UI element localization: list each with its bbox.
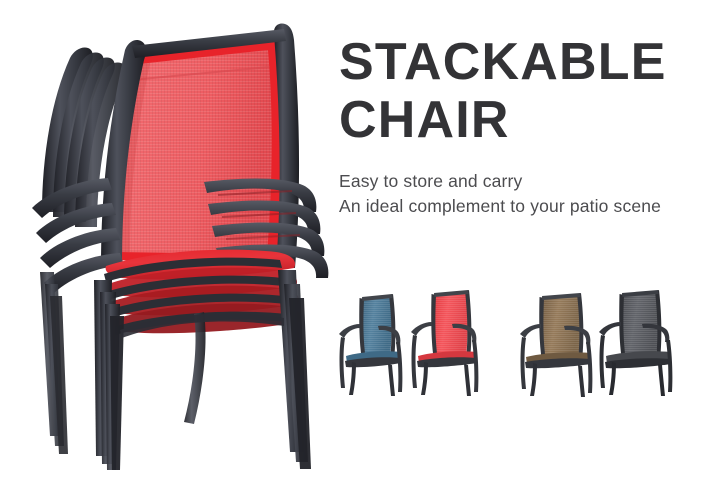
headline-line-1: STACKABLE xyxy=(339,34,699,90)
product-banner: STACKABLE CHAIR Easy to store and carry … xyxy=(0,0,720,480)
variant-chair-gray xyxy=(599,290,672,396)
headline-line-2: CHAIR xyxy=(339,92,699,148)
variant-chair-brown xyxy=(520,293,592,397)
color-variant-chair-row xyxy=(338,282,698,400)
variant-chair-red xyxy=(411,290,478,396)
variant-chair-blue xyxy=(339,294,402,396)
subcopy-line-1: Easy to store and carry xyxy=(339,148,699,194)
hero-chair-svg xyxy=(8,12,330,470)
hero-stacked-chairs-image xyxy=(8,12,330,470)
banner-text-block: STACKABLE CHAIR Easy to store and carry … xyxy=(339,34,699,219)
subcopy-line-2: An ideal complement to your patio scene xyxy=(339,194,699,219)
variant-chairs-svg xyxy=(338,282,698,400)
